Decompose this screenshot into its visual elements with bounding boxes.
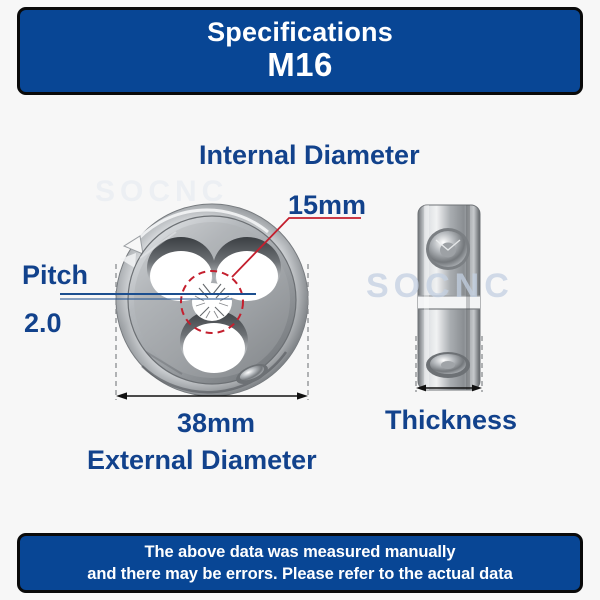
disclaimer-footer-banner: The above data was measured manually and… [17, 533, 583, 593]
external-diameter-label: External Diameter [87, 445, 317, 476]
model-designation: M16 [267, 46, 332, 84]
internal-diameter-value: 15mm [288, 190, 366, 221]
pitch-label: Pitch [22, 260, 88, 291]
spec-image-root: SOCNC SOCNC Specifications M16 Internal … [0, 0, 600, 600]
disclaimer-line-2: and there may be errors. Please refer to… [87, 563, 512, 585]
specifications-header-banner: Specifications M16 [17, 7, 583, 95]
thickness-label: Thickness [385, 405, 517, 436]
die-front-view [116, 204, 308, 396]
disclaimer-line-1: The above data was measured manually [145, 541, 456, 563]
internal-diameter-label: Internal Diameter [199, 140, 420, 171]
conical-socket-lower [426, 352, 470, 378]
external-diameter-value: 38mm [177, 408, 255, 439]
brand-watermark: SOCNC [366, 267, 514, 306]
conical-socket-upper [426, 228, 470, 270]
pitch-value: 2.0 [24, 308, 62, 339]
specifications-title: Specifications [207, 18, 393, 46]
brand-watermark-faint: SOCNC [95, 175, 228, 209]
